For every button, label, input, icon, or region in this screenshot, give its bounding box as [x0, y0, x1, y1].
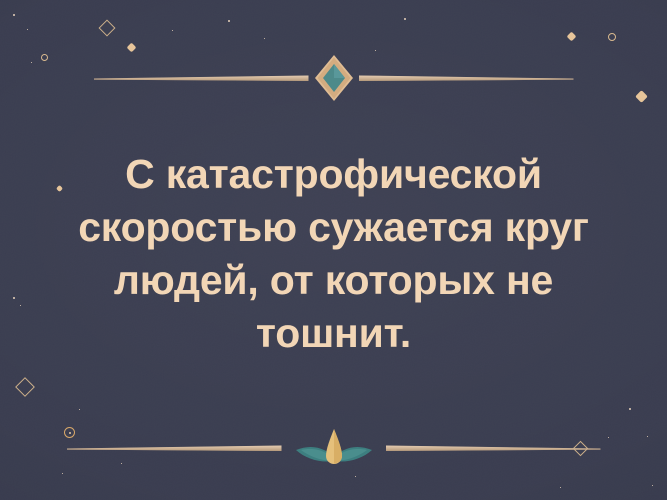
divider-rule-left — [67, 445, 282, 451]
speck-dot — [228, 20, 230, 22]
speck-dot — [355, 476, 356, 477]
speck-ring — [608, 33, 616, 41]
speck-dot — [79, 409, 80, 410]
quote-line-2: скоростью сужается круг — [26, 201, 641, 254]
bottom-divider — [0, 428, 667, 468]
speck-diamond-f — [567, 32, 577, 42]
divider-rule-right — [359, 75, 574, 81]
lotus-ornament — [276, 425, 392, 471]
speck-dot — [652, 485, 653, 486]
speck-dot — [27, 29, 28, 30]
quote-text: С катастрофической скоростью сужается кр… — [0, 148, 667, 360]
top-divider — [0, 58, 667, 98]
divider-rule-left — [94, 75, 309, 81]
quote-line-3: людей, от которых не — [26, 254, 641, 307]
speck-dot — [560, 487, 561, 488]
speck-dot — [264, 38, 265, 39]
lotus-ornament-icon — [276, 425, 392, 471]
speck-dot — [62, 473, 63, 474]
diamond-ornament-icon — [311, 53, 357, 103]
diamond-ornament — [311, 53, 357, 103]
speck-dot — [375, 50, 376, 51]
speck-diamond-f — [127, 43, 137, 53]
quote-line-4: тошнит. — [26, 307, 641, 360]
quote-line-1: С катастрофической — [26, 148, 641, 201]
quote-card: С катастрофической скоростью сужается кр… — [0, 0, 667, 500]
speck-diamond-o — [99, 20, 116, 37]
divider-rule-right — [386, 445, 601, 451]
speck-dot — [404, 18, 406, 20]
speck-dot — [629, 408, 631, 410]
speck-dot — [172, 30, 173, 31]
speck-diamond-o — [15, 377, 35, 397]
speck-dot — [13, 14, 15, 16]
